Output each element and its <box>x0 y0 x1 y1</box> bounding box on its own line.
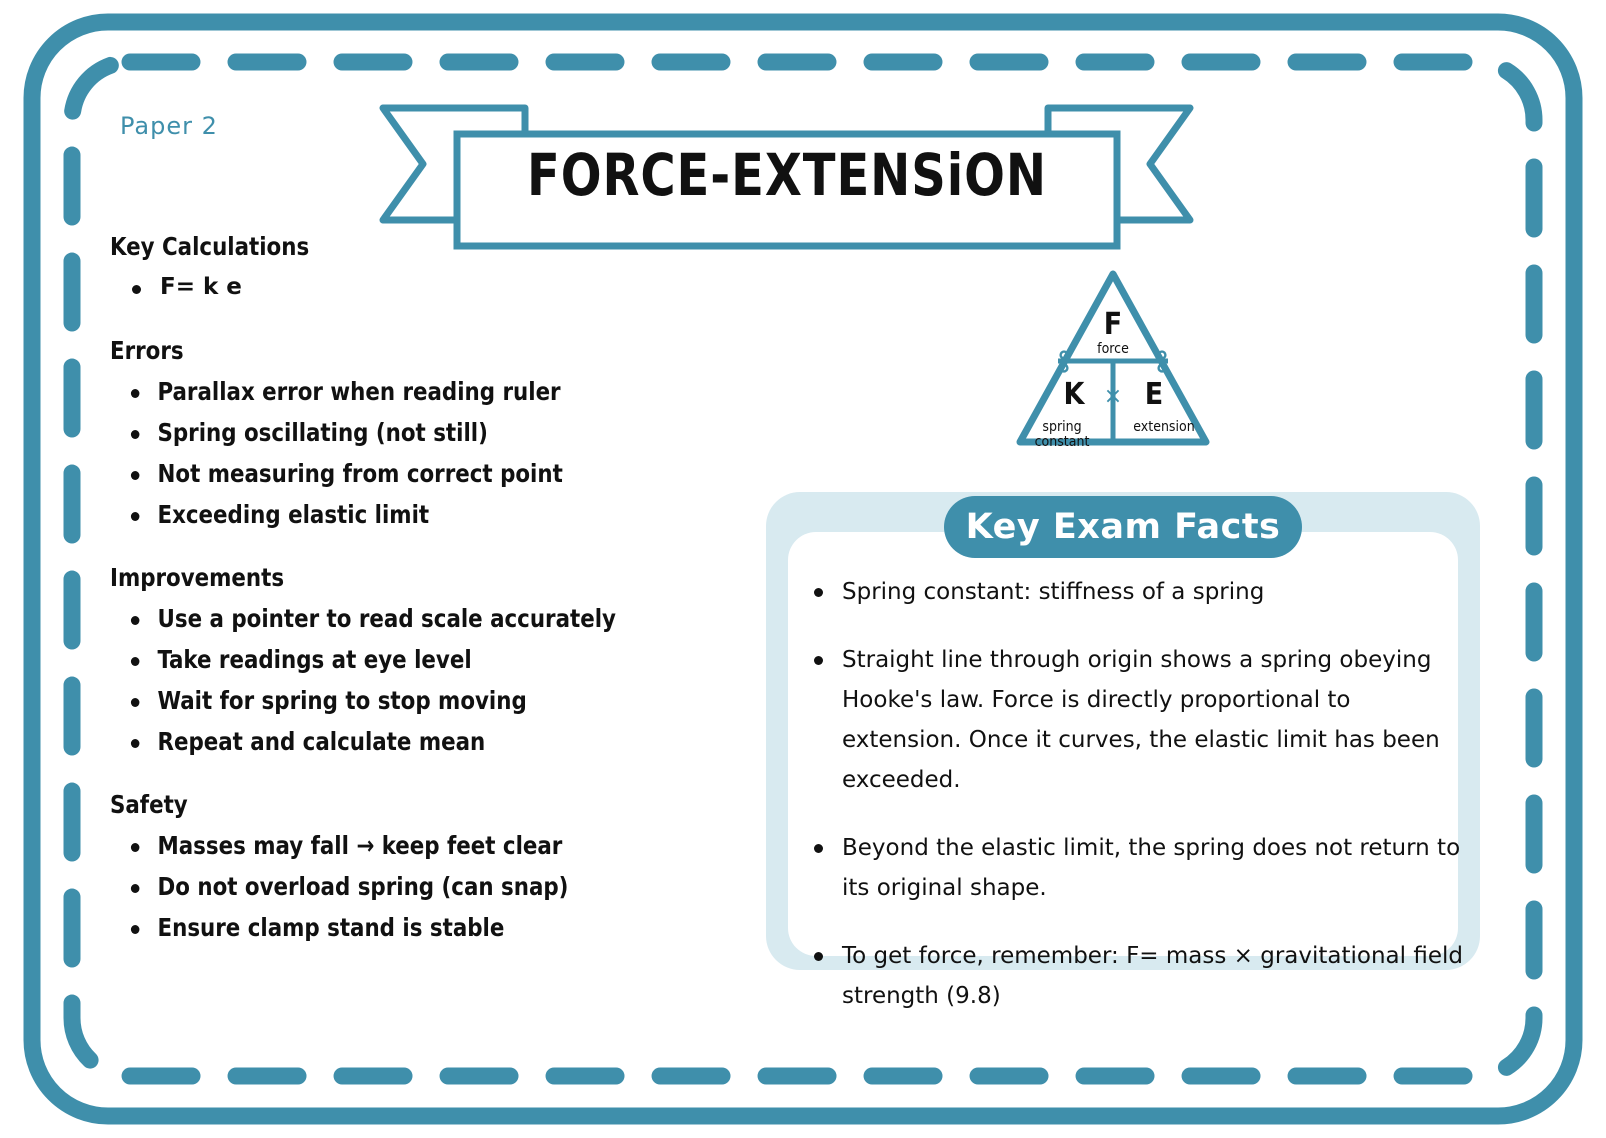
triangle-top-symbol: F <box>1088 310 1138 340</box>
list-item: Use a pointer to read scale accurately <box>110 598 718 639</box>
page-title: FORCE-EXTENSiON <box>483 136 1090 214</box>
section-safety: Safety Masses may fall → keep feet clear… <box>110 790 750 948</box>
section-improvements: Improvements Use a pointer to read scale… <box>110 563 750 762</box>
triangle-right-symbol: E <box>1134 380 1174 410</box>
divider-dot <box>1061 352 1068 359</box>
section-heading: Key Calculations <box>110 232 718 261</box>
list-item: Straight line through origin shows a spr… <box>800 640 1472 800</box>
formula-triangle: F force K E spring constant extension × <box>1016 268 1211 448</box>
section-list: Use a pointer to read scale accurately T… <box>110 598 750 762</box>
triangle-left-label: spring constant <box>1014 420 1110 450</box>
revision-sheet-page: Paper 2 FORCE-EXTENSiON Key Calculations… <box>0 0 1606 1138</box>
triangle-top-label: force <box>1073 342 1153 357</box>
section-heading: Improvements <box>110 563 718 592</box>
section-list: Masses may fall → keep feet clear Do not… <box>110 825 750 948</box>
left-column: Key Calculations F= k e Errors Parallax … <box>110 232 750 948</box>
list-item: Spring oscillating (not still) <box>110 412 718 453</box>
list-item: Take readings at eye level <box>110 639 718 680</box>
list-item: Exceeding elastic limit <box>110 494 718 535</box>
list-item: Repeat and calculate mean <box>110 721 718 762</box>
list-item: F= k e <box>110 267 750 308</box>
divider-dot <box>1159 352 1166 359</box>
section-heading: Safety <box>110 790 718 819</box>
list-item: To get force, remember: F= mass × gravit… <box>800 936 1472 1016</box>
section-key-calculations: Key Calculations F= k e <box>110 232 750 308</box>
list-item: Wait for spring to stop moving <box>110 680 718 721</box>
key-exam-facts-list: Spring constant: stiffness of a spring S… <box>800 572 1472 1016</box>
list-item: Ensure clamp stand is stable <box>110 907 718 948</box>
list-item: Parallax error when reading ruler <box>110 371 718 412</box>
triangle-right-label: extension <box>1116 420 1212 435</box>
key-exam-facts-badge: Key Exam Facts <box>944 496 1302 558</box>
list-item: Spring constant: stiffness of a spring <box>800 572 1472 612</box>
list-item: Beyond the elastic limit, the spring doe… <box>800 828 1472 908</box>
triangle-left-symbol: K <box>1054 380 1094 410</box>
section-errors: Errors Parallax error when reading ruler… <box>110 336 750 535</box>
list-item: Do not overload spring (can snap) <box>110 866 718 907</box>
multiply-icon: × <box>1099 386 1127 408</box>
section-list: F= k e <box>110 267 750 308</box>
list-item: Not measuring from correct point <box>110 453 718 494</box>
paper-tag: Paper 2 <box>120 112 218 140</box>
section-list: Parallax error when reading ruler Spring… <box>110 371 750 535</box>
section-heading: Errors <box>110 336 718 365</box>
title-ribbon: FORCE-EXTENSiON <box>375 98 1198 250</box>
list-item: Masses may fall → keep feet clear <box>110 825 718 866</box>
